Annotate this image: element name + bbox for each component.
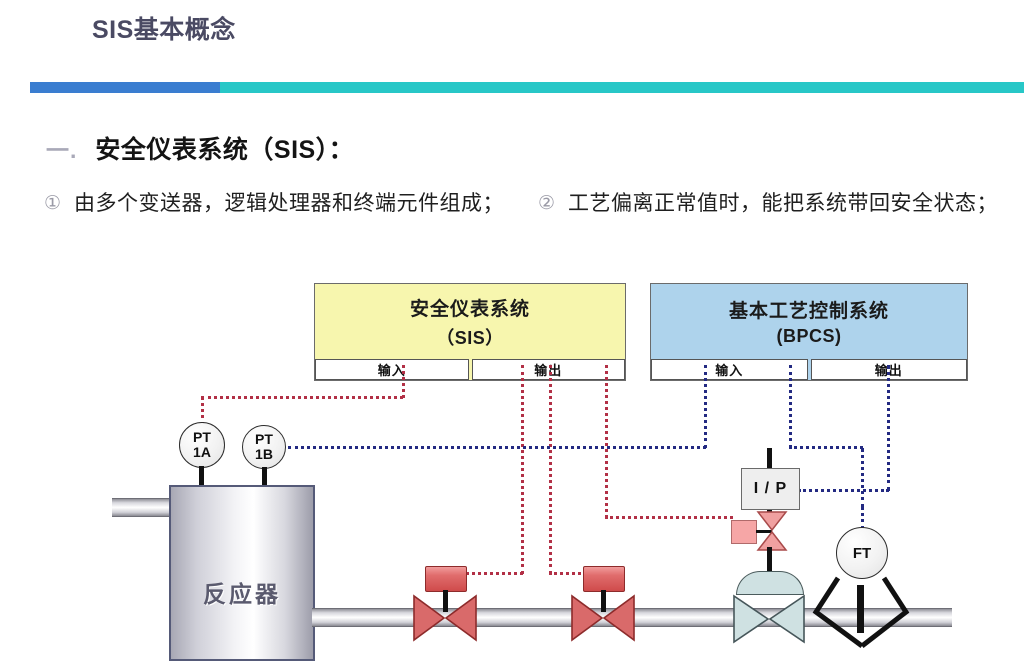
reactor-vessel: 反应器 <box>169 485 315 661</box>
bullet-item-1: ① 由多个变送器，逻辑处理器和终端元件组成； <box>44 186 514 221</box>
sis-input-port: 输入 <box>315 359 469 380</box>
signal-bpcs-ip-run <box>798 489 889 492</box>
signal-sis-input-drop <box>402 365 405 398</box>
sis-ports: 输入 输出 <box>315 359 625 380</box>
sis-title-line1: 安全仪表系统 <box>410 294 530 321</box>
sis-system-box: 安全仪表系统 （SIS） 输入 输出 <box>314 283 626 381</box>
orifice-plate <box>857 585 864 633</box>
signal-bpcs-input-riser-1 <box>704 365 707 448</box>
signal-bpcs-input-riser-2 <box>789 365 792 448</box>
bullet-marker-1: ① <box>44 186 61 221</box>
ip-converter[interactable]: I / P <box>741 468 800 510</box>
signal-sis-output-drop-1 <box>521 365 524 574</box>
signal-bpcs-pt1b-run <box>288 446 706 449</box>
section-heading-label: 安全仪表系统（SIS）： <box>95 130 354 166</box>
signal-sis-output-drop-3 <box>605 365 608 518</box>
signal-sis-output-drop-2 <box>549 365 552 574</box>
page-title: SIS基本概念 <box>92 10 236 46</box>
bpcs-system-box: 基本工艺控制系统 (BPCS) 输入 输出 <box>650 283 968 381</box>
pt1a-tag-top: PT <box>193 430 211 445</box>
divider-segment-blue <box>30 82 220 93</box>
valve1-body <box>412 592 480 644</box>
bpcs-ports: 输入 输出 <box>651 359 967 380</box>
valve2-actuator <box>583 566 625 592</box>
pt1a-tag-bottom: 1A <box>193 445 211 460</box>
bpcs-box-header: 基本工艺控制系统 (BPCS) <box>651 284 967 359</box>
pt1b-tag-bottom: 1B <box>255 447 273 462</box>
ip-upper-stem <box>767 448 772 469</box>
title-divider-bar <box>30 82 1024 93</box>
process-diagram: 安全仪表系统 （SIS） 输入 输出 基本工艺控制系统 (BPCS) 输入 输出 <box>0 270 1024 661</box>
bpcs-title-line2: (BPCS) <box>777 326 842 347</box>
signal-sis-solenoid-run <box>605 516 733 519</box>
ft-tag: FT <box>853 546 871 561</box>
signal-sis-pt1a-run <box>201 396 403 399</box>
bpcs-title-line1: 基本工艺控制系统 <box>729 296 889 323</box>
signal-bpcs-ft-run <box>789 446 863 449</box>
bullet-text-1: 由多个变送器，逻辑处理器和终端元件组成； <box>74 186 504 221</box>
bullet-text-2: 工艺偏离正常值时，能把系统带回安全状态； <box>568 186 998 221</box>
signal-bpcs-ft-riser-2 <box>861 448 864 508</box>
section-number: 一. <box>46 131 77 165</box>
bullet-item-2: ② 工艺偏离正常值时，能把系统带回安全状态； <box>538 186 1018 221</box>
valve1-actuator <box>425 566 467 592</box>
bullet-marker-2: ② <box>538 186 555 221</box>
control-valve-body <box>732 592 808 646</box>
solenoid-valve-body[interactable] <box>754 510 790 554</box>
reactor-vessel-label: 反应器 <box>171 575 313 609</box>
sis-box-header: 安全仪表系统 （SIS） <box>315 284 625 359</box>
divider-segment-teal <box>220 82 1024 93</box>
sis-title-line2: （SIS） <box>436 324 504 350</box>
bpcs-input-port: 输入 <box>651 359 808 380</box>
signal-bpcs-output-drop <box>887 365 890 491</box>
inlet-pipe <box>112 498 174 517</box>
pt1b-tag-top: PT <box>255 432 273 447</box>
valve2-body <box>570 592 638 644</box>
section-heading: 一. 安全仪表系统（SIS）： <box>46 130 354 166</box>
pressure-transmitter-1b[interactable]: PT 1B <box>242 425 286 469</box>
pressure-transmitter-1a[interactable]: PT 1A <box>179 422 225 468</box>
